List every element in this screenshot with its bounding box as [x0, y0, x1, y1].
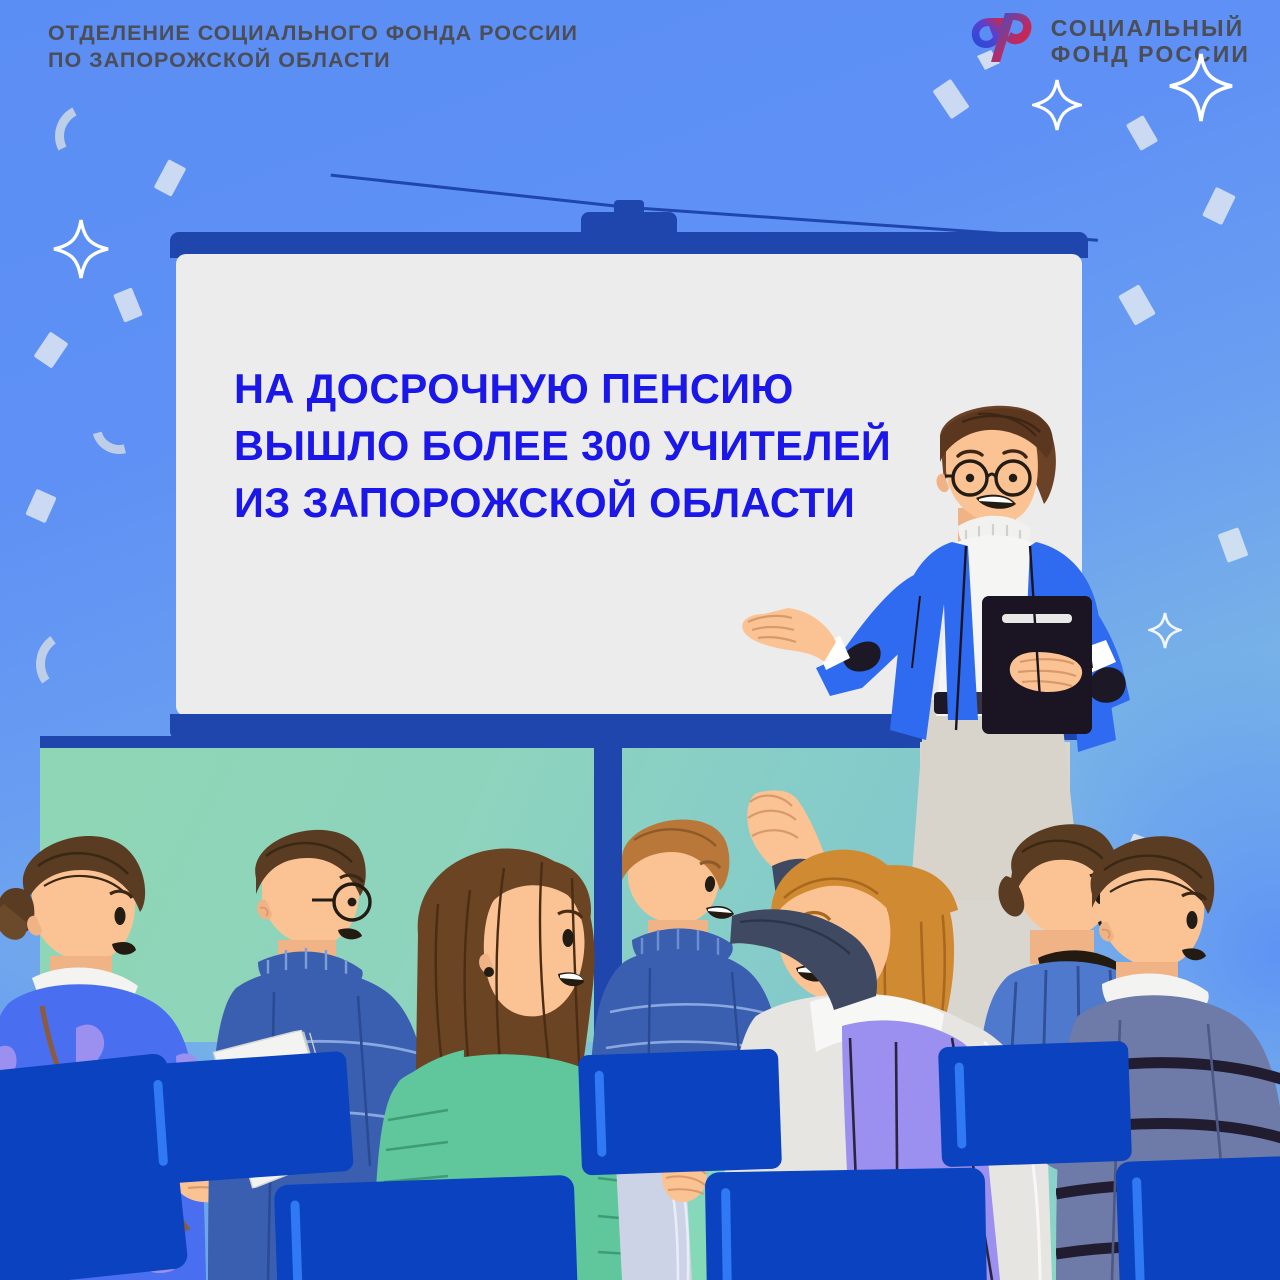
seat — [1115, 1154, 1280, 1280]
confetti-piece — [1118, 284, 1156, 325]
confetti-piece — [1202, 187, 1236, 225]
confetti-piece — [25, 489, 56, 524]
confetti-piece — [932, 79, 969, 119]
poster-root: ОТДЕЛЕНИЕ СОЦИАЛЬНОГО ФОНДА РОССИИ ПО ЗА… — [0, 0, 1280, 1280]
sparkle-icon — [52, 218, 110, 285]
confetti-piece — [33, 331, 68, 368]
confetti-piece — [47, 96, 128, 177]
confetti-piece — [82, 390, 156, 464]
seat — [274, 1175, 578, 1280]
confetti-piece — [1126, 115, 1158, 151]
sfr-monogram-icon — [967, 10, 1037, 72]
org-header-line1: ОТДЕЛЕНИЕ СОЦИАЛЬНОГО ФОНДА РОССИИ — [48, 20, 728, 47]
whiteboard-hang-wire-left — [331, 174, 630, 209]
confetti-piece — [154, 159, 187, 197]
org-header-line2: ПО ЗАПОРОЖСКОЙ ОБЛАСТИ — [48, 47, 728, 74]
sparkle-icon — [1032, 78, 1082, 137]
attendee-blond-man-arm — [730, 900, 880, 1020]
seat — [705, 1168, 987, 1280]
seat — [136, 1051, 354, 1185]
seat — [938, 1041, 1132, 1168]
confetti-piece — [1218, 527, 1249, 563]
confetti-piece — [113, 287, 143, 322]
sparkle-icon — [1168, 52, 1234, 129]
sfr-logo-line1: СОЦИАЛЬНЫЙ — [1051, 15, 1250, 41]
seat — [578, 1049, 782, 1176]
org-header: ОТДЕЛЕНИЕ СОЦИАЛЬНОГО ФОНДА РОССИИ ПО ЗА… — [48, 20, 728, 74]
